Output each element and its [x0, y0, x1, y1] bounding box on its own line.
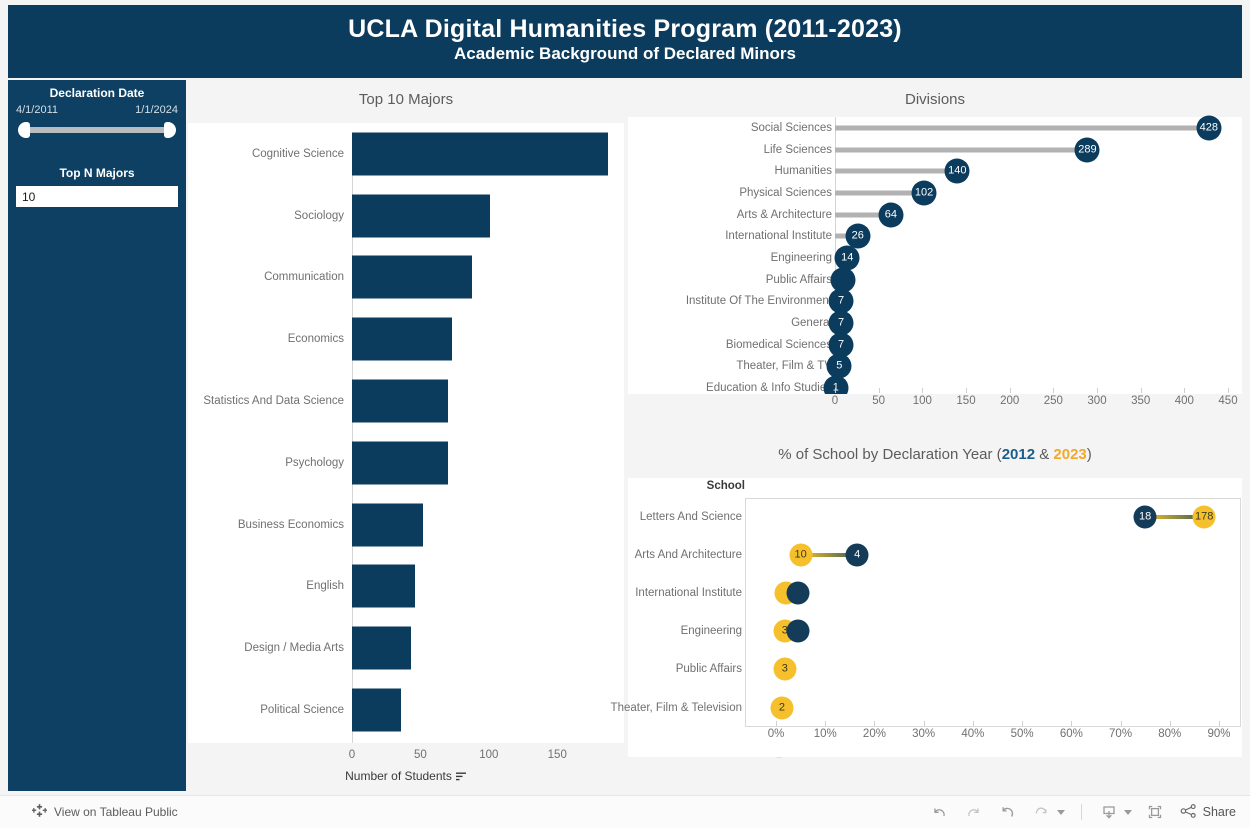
major-bar-row[interactable]: Statistics And Data Science — [188, 370, 624, 432]
divisions-tickmark — [966, 388, 967, 393]
redo-icon[interactable] — [959, 799, 989, 825]
view-on-tableau-public-link[interactable]: View on Tableau Public — [32, 796, 178, 828]
share-label: Share — [1203, 805, 1236, 819]
division-label: Biomedical Sciences — [726, 339, 832, 351]
school-row[interactable]: International Institute — [628, 574, 1242, 612]
major-bar-label: Economics — [288, 333, 344, 345]
school-row[interactable]: Arts And Architecture104 — [628, 536, 1242, 574]
toolbar-actions: Share — [925, 796, 1236, 828]
date-range-min: 4/1/2011 — [16, 104, 58, 116]
division-label: Institute Of The Environment — [686, 295, 832, 307]
divisions-axis-tick: 200 — [1000, 395, 1019, 407]
divisions-axis-tick: 100 — [913, 395, 932, 407]
school-percent-panel: % of School by Declaration Year (2012 & … — [628, 434, 1242, 791]
school-axis-tick: 70% — [1109, 728, 1132, 740]
bottom-toolbar: View on Tableau Public — [0, 795, 1250, 828]
dashboard: UCLA Digital Humanities Program (2011-20… — [0, 0, 1250, 795]
major-bar-row[interactable]: Sociology — [188, 185, 624, 247]
school-axis-tick: 20% — [863, 728, 886, 740]
divisions-axis-tick: 250 — [1044, 395, 1063, 407]
majors-bar-list: Cognitive ScienceSociologyCommunicationE… — [188, 123, 624, 741]
major-bar[interactable] — [352, 441, 448, 484]
view-on-tableau-public-label: View on Tableau Public — [54, 805, 178, 819]
division-stem — [835, 125, 1209, 130]
divisions-tickmark — [1053, 388, 1054, 393]
division-value-dot[interactable]: 64 — [878, 202, 903, 227]
school-tickmark — [874, 721, 875, 726]
school-dot-2012[interactable]: 4 — [846, 544, 869, 567]
school-row[interactable]: Letters And Science17818 — [628, 498, 1242, 536]
division-value-dot[interactable]: 102 — [912, 180, 937, 205]
school-label: Letters And Science — [592, 508, 742, 526]
majors-x-axis: 050100150 Number of Students — [188, 743, 624, 791]
division-row[interactable]: Humanities140 — [628, 160, 1242, 182]
school-tickmark — [776, 721, 777, 726]
major-bar[interactable] — [352, 194, 490, 237]
division-stem — [835, 147, 1087, 152]
school-dot-2023[interactable]: 10 — [789, 544, 812, 567]
school-title-mid: & — [1035, 446, 1053, 463]
division-row[interactable]: Biomedical Sciences7 — [628, 334, 1242, 356]
divisions-tickmark — [1097, 388, 1098, 393]
school-axis-tick: 0% — [768, 728, 785, 740]
divisions-tickmark — [879, 388, 880, 393]
majors-axis-tick: 0 — [349, 749, 355, 761]
date-range-max: 1/1/2024 — [135, 104, 178, 116]
school-label: Public Affairs — [592, 660, 742, 678]
page-title: UCLA Digital Humanities Program (2011-20… — [8, 15, 1242, 43]
divisions-axis-tick: 50 — [872, 395, 885, 407]
major-bar-row[interactable]: Communication — [188, 247, 624, 309]
major-bar[interactable] — [352, 503, 423, 546]
division-stem — [835, 169, 957, 174]
top-majors-chart: Cognitive ScienceSociologyCommunicationE… — [188, 123, 624, 743]
division-label: Social Sciences — [751, 122, 832, 134]
division-label: International Institute — [725, 230, 832, 242]
school-x-axis: 0%10%20%30%40%50%60%70%80%90% — [628, 727, 1242, 757]
top-n-majors-label: Top N Majors — [8, 166, 186, 180]
division-row[interactable]: Institute Of The Environment7 — [628, 291, 1242, 313]
school-tickmark — [1071, 721, 1072, 726]
fullscreen-icon[interactable] — [1140, 799, 1170, 825]
division-row[interactable]: General7 — [628, 312, 1242, 334]
division-label: Engineering — [771, 252, 832, 264]
school-tickmark — [1022, 721, 1023, 726]
major-bar-row[interactable]: Political Science — [188, 679, 624, 741]
date-range-endpoints: 4/1/2011 1/1/2024 — [8, 100, 186, 116]
dashboard-header: UCLA Digital Humanities Program (2011-20… — [8, 5, 1242, 78]
filter-panel: Declaration Date 4/1/2011 1/1/2024 Top N… — [8, 80, 186, 791]
revert-icon[interactable] — [993, 799, 1023, 825]
school-tickmark — [825, 721, 826, 726]
download-icon[interactable] — [1094, 799, 1124, 825]
school-axis-tick: 60% — [1060, 728, 1083, 740]
divisions-axis-tick: 300 — [1087, 395, 1106, 407]
major-bar-label: Statistics And Data Science — [203, 395, 344, 407]
download-dropdown-caret-icon[interactable] — [1124, 810, 1132, 815]
major-bar-label: Cognitive Science — [252, 148, 344, 160]
divisions-axis-tick: 150 — [956, 395, 975, 407]
division-label: Humanities — [774, 165, 832, 177]
division-row[interactable]: Engineering14 — [628, 247, 1242, 269]
school-dot-2023[interactable]: 2 — [770, 696, 793, 719]
division-label: Physical Sciences — [739, 187, 832, 199]
divisions-panel: Divisions Social Sciences428Life Science… — [628, 80, 1242, 432]
school-dot-2023[interactable]: 3 — [773, 658, 796, 681]
refresh-icon[interactable] — [1027, 799, 1057, 825]
school-column-header: School — [628, 478, 1242, 498]
division-value-dot[interactable]: 428 — [1196, 115, 1221, 140]
major-bar-row[interactable]: Cognitive Science — [188, 123, 624, 185]
divisions-tickmark — [835, 388, 836, 393]
major-bar[interactable] — [352, 256, 472, 299]
school-axis-tick: 50% — [1011, 728, 1034, 740]
school-tickmark — [1121, 721, 1122, 726]
top-majors-title: Top 10 Majors — [188, 80, 624, 123]
divisions-axis-tick: 450 — [1218, 395, 1237, 407]
major-bar-row[interactable]: Psychology — [188, 432, 624, 494]
major-bar[interactable] — [352, 132, 608, 175]
declaration-date-filter-label: Declaration Date — [8, 86, 186, 100]
majors-axis-title-text: Number of Students — [345, 769, 452, 783]
division-row[interactable]: Social Sciences428 — [628, 117, 1242, 139]
divisions-axis-tick: 350 — [1131, 395, 1150, 407]
divisions-tickmark — [1141, 388, 1142, 393]
school-tickmark — [973, 721, 974, 726]
major-bar-label: Sociology — [294, 210, 344, 222]
school-tickmark — [1219, 721, 1220, 726]
undo-icon[interactable] — [925, 799, 955, 825]
major-bar-row[interactable]: Economics — [188, 308, 624, 370]
school-title-prefix: % of School by Declaration Year ( — [778, 446, 1001, 463]
school-axis-tick: 10% — [814, 728, 837, 740]
school-axis-tick: 40% — [961, 728, 984, 740]
major-bar[interactable] — [352, 689, 401, 732]
school-percent-title: % of School by Declaration Year (2012 & … — [628, 434, 1242, 476]
major-bar[interactable] — [352, 627, 411, 670]
majors-axis-tick: 100 — [479, 749, 498, 761]
division-row[interactable]: Arts & Architecture64 — [628, 204, 1242, 226]
major-bar-row[interactable]: Design / Media Arts — [188, 617, 624, 679]
divisions-axis-tick: 400 — [1175, 395, 1194, 407]
tableau-logo-icon — [32, 803, 47, 821]
school-label: Arts And Architecture — [592, 546, 742, 564]
divisions-chart: Social Sciences428Life Sciences289Humani… — [628, 117, 1242, 394]
major-bar-label: Communication — [264, 271, 344, 283]
top-n-majors-input[interactable]: 10 — [16, 186, 178, 207]
school-tickmark — [1170, 721, 1171, 726]
division-value-dot[interactable]: 289 — [1075, 137, 1100, 162]
major-bar[interactable] — [352, 565, 415, 608]
major-bar-label: Psychology — [285, 457, 344, 469]
share-icon — [1180, 803, 1198, 822]
major-bar-row[interactable]: Business Economics — [188, 494, 624, 556]
school-label: Engineering — [592, 622, 742, 640]
school-dot-2012[interactable] — [787, 620, 810, 643]
share-button[interactable]: Share — [1174, 803, 1236, 822]
divisions-axis-tick: 0 — [832, 395, 838, 407]
school-axis-tick: 30% — [912, 728, 935, 740]
major-bar-label: Design / Media Arts — [244, 642, 344, 654]
school-tickmark — [924, 721, 925, 726]
major-bar-row[interactable]: English — [188, 556, 624, 618]
school-row[interactable]: Public Affairs3 — [628, 650, 1242, 688]
legend-year-2023: 2023 — [1053, 446, 1086, 463]
divisions-tickmark — [1184, 388, 1185, 393]
division-row[interactable]: Physical Sciences102 — [628, 182, 1242, 204]
major-bar-label: Political Science — [260, 704, 344, 716]
school-column-header-label: School — [707, 480, 745, 492]
division-row[interactable]: Public Affairs — [628, 269, 1242, 291]
school-row[interactable]: Theater, Film & Television2 — [628, 688, 1242, 726]
school-dot-2023[interactable]: 178 — [1193, 506, 1216, 529]
majors-axis-title[interactable]: Number of Students — [188, 769, 624, 784]
major-bar-label: English — [306, 580, 344, 592]
division-value-dot[interactable]: 140 — [945, 159, 970, 184]
divisions-tickmark — [1228, 388, 1229, 393]
legend-year-2012: 2012 — [1002, 446, 1035, 463]
division-row[interactable]: Theater, Film & TV5 — [628, 356, 1242, 378]
division-label: Public Affairs — [766, 274, 832, 286]
school-row[interactable]: Engineering3 — [628, 612, 1242, 650]
major-bar[interactable] — [352, 318, 452, 361]
division-label: General — [791, 317, 832, 329]
slider-handle-right[interactable] — [164, 122, 176, 138]
date-range-slider[interactable] — [18, 120, 176, 140]
top-majors-panel: Top 10 Majors Cognitive ScienceSociology… — [188, 80, 624, 791]
divisions-x-axis: 050100150200250300350400450 — [628, 394, 1242, 424]
divisions-tickmark — [1010, 388, 1011, 393]
school-percent-chart: Letters And Science17818Arts And Archite… — [628, 498, 1242, 727]
divisions-row-list: Social Sciences428Life Sciences289Humani… — [628, 117, 1242, 399]
division-label: Life Sciences — [764, 144, 832, 156]
major-bar-label: Business Economics — [238, 519, 344, 531]
school-row-list: Letters And Science17818Arts And Archite… — [628, 498, 1242, 765]
school-title-suffix: ) — [1087, 446, 1092, 463]
school-axis-tick: 80% — [1158, 728, 1181, 740]
slider-track[interactable] — [26, 127, 168, 133]
majors-axis-tick: 150 — [548, 749, 567, 761]
majors-axis-tick: 50 — [414, 749, 427, 761]
divisions-tickmark — [922, 388, 923, 393]
division-label: Education & Info Studies — [706, 382, 832, 394]
division-row[interactable]: International Institute26 — [628, 225, 1242, 247]
major-bar[interactable] — [352, 380, 448, 423]
page-subtitle: Academic Background of Declared Minors — [8, 43, 1242, 65]
toolbar-divider — [1081, 804, 1082, 820]
slider-handle-left[interactable] — [18, 122, 30, 138]
school-label: Theater, Film & Television — [592, 699, 742, 717]
division-row[interactable]: Life Sciences289 — [628, 139, 1242, 161]
school-label: International Institute — [592, 584, 742, 602]
division-label: Theater, Film & TV — [736, 360, 832, 372]
school-dot-2012[interactable] — [787, 582, 810, 605]
school-dot-2012[interactable]: 18 — [1134, 506, 1157, 529]
division-label: Arts & Architecture — [737, 209, 832, 221]
sort-icon[interactable] — [456, 770, 467, 784]
refresh-dropdown-caret-icon[interactable] — [1057, 810, 1065, 815]
school-axis-tick: 90% — [1207, 728, 1230, 740]
